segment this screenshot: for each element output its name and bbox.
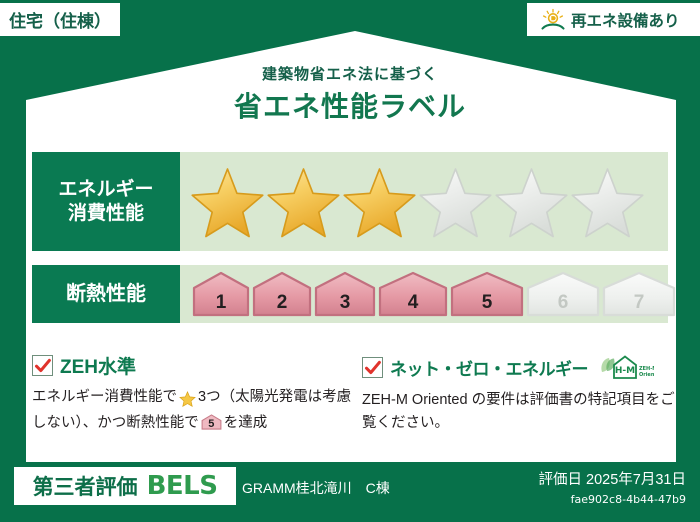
- checkmark-icon: [362, 357, 383, 378]
- insulation-rating-content: 1234567: [180, 265, 678, 323]
- renewable-equipment-badge: 再エネ設備あり: [527, 3, 700, 36]
- inline-star-icon: [178, 392, 197, 408]
- star-filled-icon: [190, 166, 265, 238]
- insulation-chip-number: 1: [192, 293, 250, 312]
- sun-icon: [539, 8, 567, 32]
- energy-label-line-1: エネルギー: [58, 178, 153, 202]
- bels-logo-text: BELS: [147, 471, 218, 501]
- renewable-badge-label: 再エネ設備あり: [571, 9, 680, 31]
- insulation-chip-empty: 6: [526, 271, 600, 317]
- zeh-standard-claim: ZEH水準 エネルギー消費性能で3つ（太陽光発電は考慮しない）、かつ断熱性能で5…: [32, 352, 352, 436]
- zeh-m-oriented-logo-icon: H-M ZEH-M Oriented: [598, 352, 654, 382]
- star-empty-icon: [494, 166, 569, 238]
- insulation-chip-number: 3: [314, 293, 376, 312]
- star-filled-icon: [266, 166, 341, 238]
- insulation-chip-filled: 5: [450, 271, 524, 317]
- insulation-label-text: 断熱性能: [66, 282, 146, 307]
- zeh-body-post: を達成: [224, 415, 268, 431]
- building-type-tag: 住宅（住棟）: [0, 3, 120, 36]
- bels-label: 住宅（住棟） 再エネ設備あり 建築物省エネ法に基づく 省エネ性能ラベル: [0, 0, 700, 522]
- star-empty-icon: [570, 166, 645, 238]
- insulation-performance-label: 断熱性能: [32, 265, 180, 323]
- star-filled-icon: [342, 166, 417, 238]
- third-party-eval-label: 第三者評価: [33, 471, 138, 501]
- insulation-chip-number: 7: [602, 293, 676, 312]
- zeh-claim-body: エネルギー消費性能で3つ（太陽光発電は考慮しない）、かつ断熱性能で5を達成: [32, 386, 352, 436]
- evaluation-uuid: fae902c8-4b44-47b9: [539, 493, 686, 506]
- net-zero-energy-claim: ネット・ゼロ・エネルギー H-M ZEH-M Oriented ZEH-M Or…: [362, 352, 678, 436]
- building-type-label: 住宅（住棟）: [9, 7, 111, 32]
- insulation-chip-filled: 4: [378, 271, 448, 317]
- nze-claim-body: ZEH-M Oriented の要件は評価書の特記項目をご覧ください。: [362, 389, 678, 436]
- svg-text:H-M: H-M: [615, 366, 635, 376]
- energy-rating-content: [180, 152, 668, 251]
- energy-label-line-2: 消費性能: [68, 202, 144, 226]
- label-subtitle: 建築物省エネ法に基づく: [0, 63, 700, 84]
- insulation-grade-scale: 1234567: [180, 265, 678, 323]
- insulation-chip-filled: 1: [192, 271, 250, 317]
- insulation-chip-number: 2: [252, 293, 312, 312]
- nze-claim-title: ネット・ゼロ・エネルギー: [390, 355, 588, 380]
- zeh-claim-title: ZEH水準: [60, 352, 136, 379]
- inline-chip-number: 5: [201, 419, 222, 430]
- nze-claim-header: ネット・ゼロ・エネルギー H-M ZEH-M Oriented: [362, 352, 678, 382]
- svg-text:Oriented: Oriented: [639, 372, 654, 378]
- evaluation-meta: 評価日 2025年7月31日 fae902c8-4b44-47b9: [539, 468, 686, 506]
- bels-certification-badge: 第三者評価 BELS: [14, 467, 236, 505]
- insulation-chip-number: 6: [526, 293, 600, 312]
- star-empty-icon: [418, 166, 493, 238]
- insulation-chip-empty: 7: [602, 271, 676, 317]
- energy-performance-label: エネルギー 消費性能: [32, 152, 180, 251]
- label-title: 省エネ性能ラベル: [0, 85, 700, 125]
- insulation-chip-number: 4: [378, 293, 448, 312]
- building-name: GRAMM桂北滝川 C棟: [242, 478, 390, 498]
- insulation-chip-number: 5: [450, 293, 524, 312]
- star-rating: [180, 166, 645, 238]
- energy-performance-row: エネルギー 消費性能: [32, 152, 668, 251]
- inline-grade-chip: 5: [201, 414, 222, 430]
- insulation-chip-filled: 2: [252, 271, 312, 317]
- insulation-performance-row: 断熱性能 1234567: [32, 265, 668, 323]
- checkmark-icon: [32, 355, 53, 376]
- zeh-body-pre: エネルギー消費性能で: [32, 389, 177, 405]
- zeh-claim-header: ZEH水準: [32, 352, 352, 379]
- insulation-chip-filled: 3: [314, 271, 376, 317]
- evaluation-date: 評価日 2025年7月31日: [539, 468, 686, 489]
